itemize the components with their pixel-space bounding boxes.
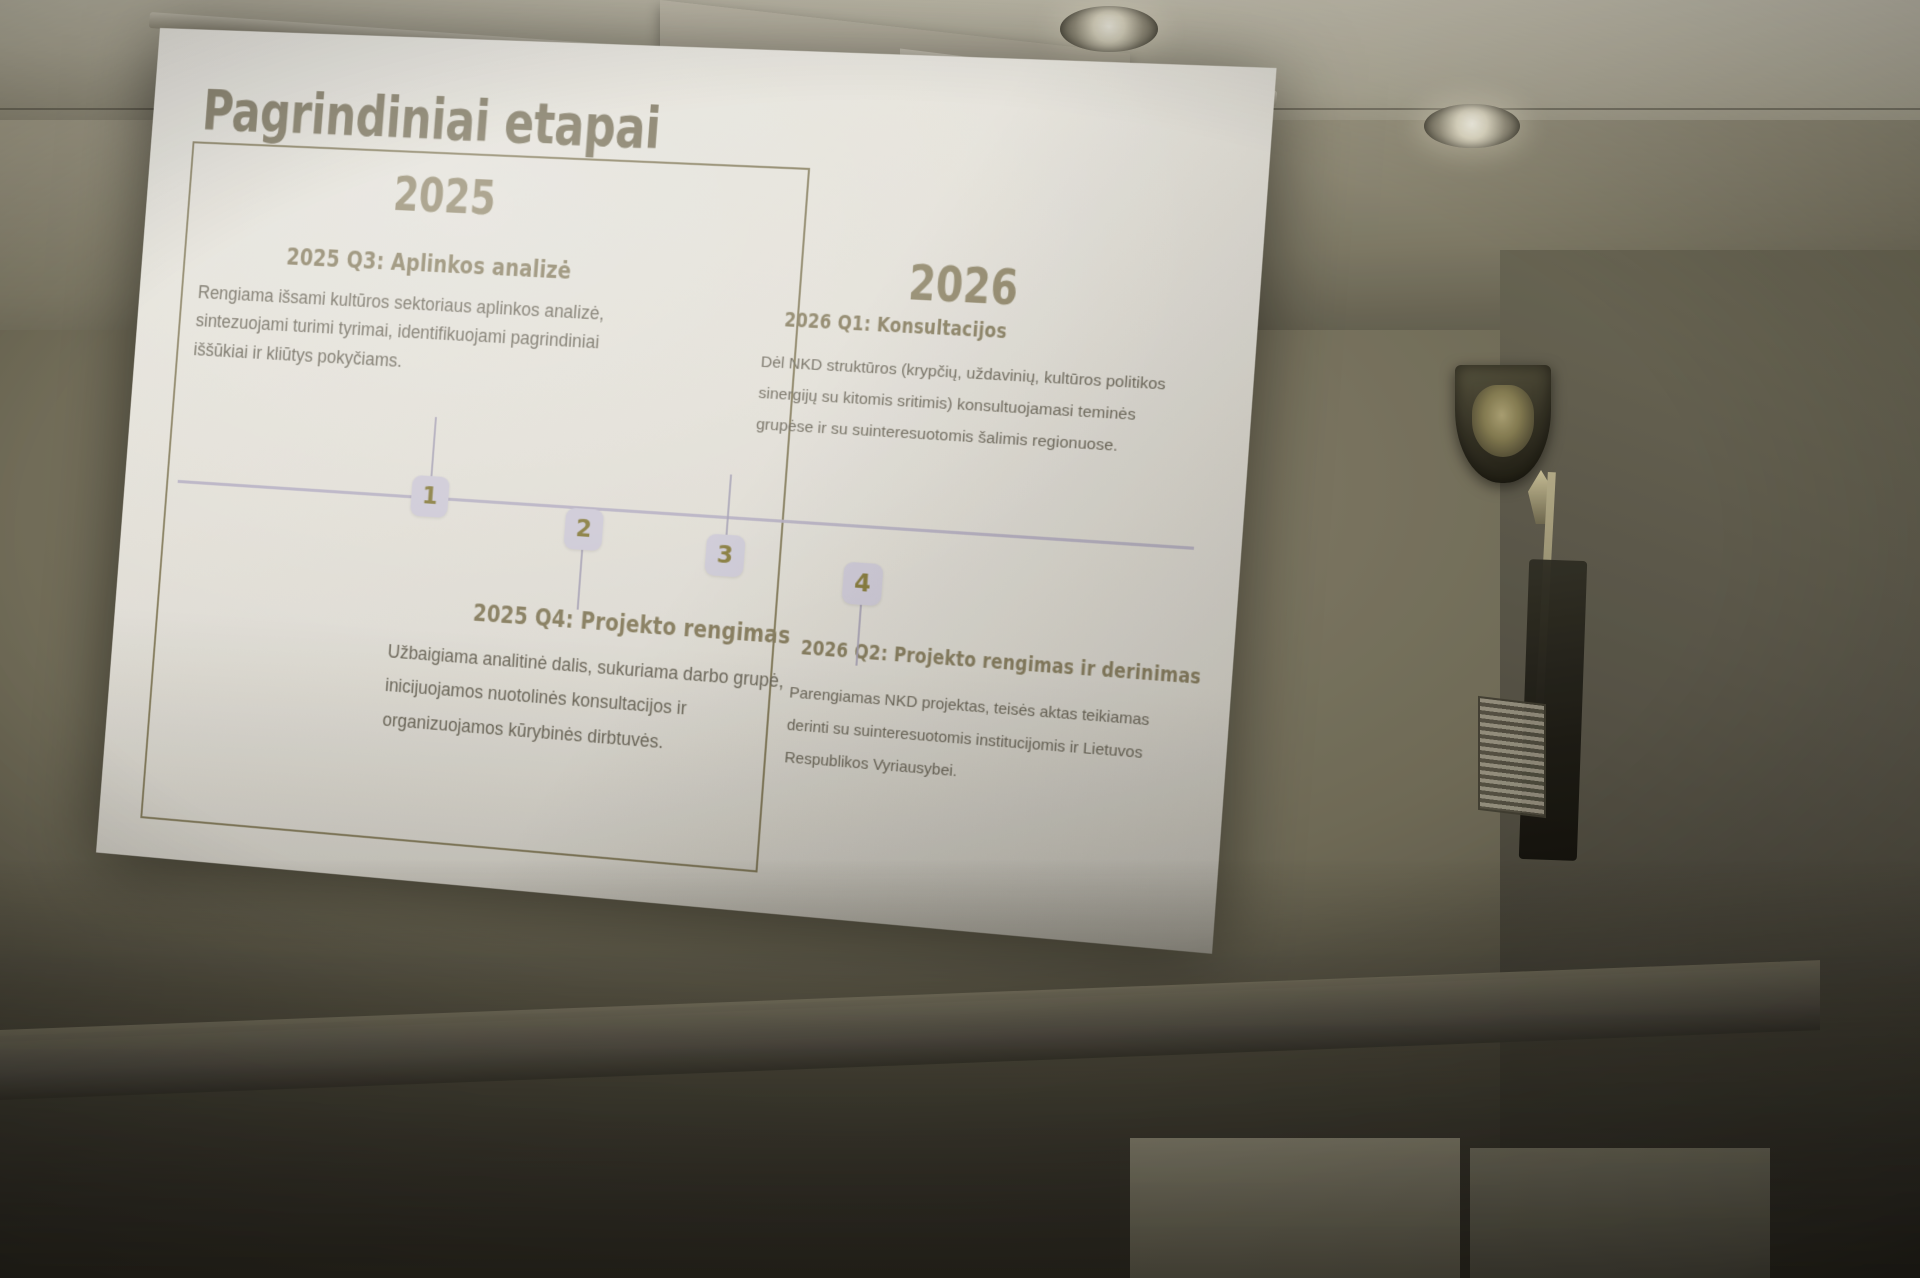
photograph-scene: Pagrindiniai etapai 2025 2026 2025 Q3: A… [0, 0, 1920, 1278]
coat-of-arms-emblem-icon [1472, 385, 1534, 457]
column-heading-2026: 2026 [907, 254, 1021, 316]
column-heading-2025: 2025 [391, 166, 497, 226]
event-body-4: Parengiamas NKD projektas, teisės aktas … [783, 678, 1188, 807]
wall-panel-left [1130, 1138, 1460, 1278]
wall-panel-right [1470, 1148, 1770, 1278]
presentation-slide: Pagrindiniai etapai 2025 2026 2025 Q3: A… [96, 28, 1277, 954]
wall-vent-grille-icon [1478, 696, 1546, 818]
event-body-3: Dėl NKD struktūros (krypčių, uždavinių, … [755, 347, 1179, 467]
event-title-4: 2026 Q2: Projekto rengimas ir derinimas [800, 636, 1202, 689]
timeline-marker-1: 1 [410, 475, 450, 518]
timeline-marker-2: 2 [563, 507, 604, 551]
timeline-marker-3: 3 [704, 533, 746, 577]
timeline-marker-4: 4 [841, 562, 883, 607]
